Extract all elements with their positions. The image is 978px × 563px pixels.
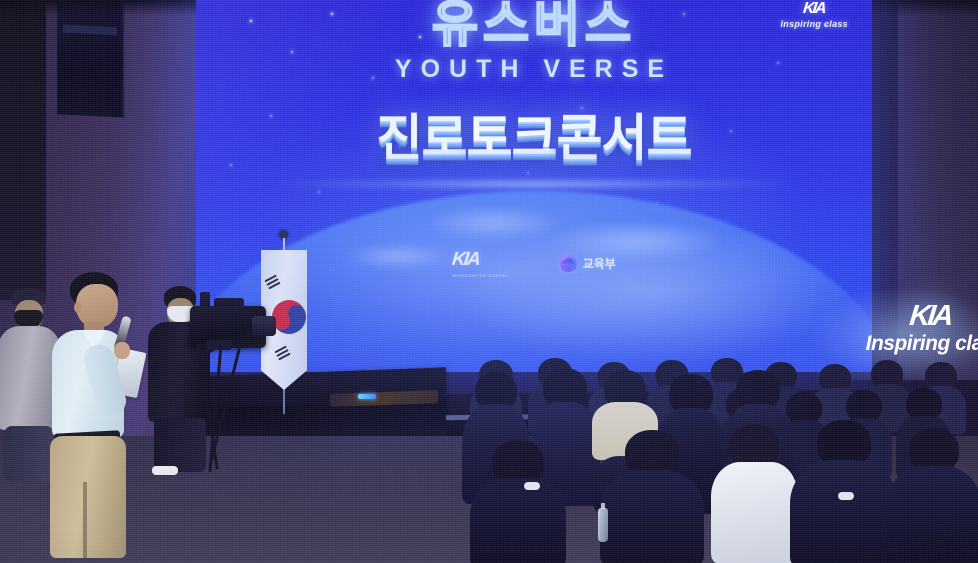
taegeuk-government-logo-icon — [560, 255, 577, 272]
screen-title-korean: 유스버스 — [196, 0, 872, 51]
person-presenter — [34, 272, 144, 557]
audience-member — [704, 424, 804, 563]
ministry-label: 교육부 — [583, 255, 616, 272]
water-bottle-icon — [598, 508, 608, 542]
audience-member — [600, 430, 704, 563]
shoe — [152, 466, 178, 475]
screen-title-english: YOUTH VERSE — [196, 55, 872, 84]
audience-member — [886, 428, 978, 563]
wall-brand-sign: KIA Inspiring clas — [866, 300, 978, 356]
equipment-indicator-light-icon — [358, 394, 376, 399]
shoe — [838, 492, 854, 500]
screen-title-block: 유스버스 YOUTH VERSE — [196, 0, 872, 84]
screen-badge-tagline: Inspiring class — [780, 19, 848, 29]
sponsor-ministry-of-education: 교육부 — [560, 255, 616, 272]
sponsor-kia: KIA Movement that inspires — [452, 249, 507, 278]
audience-member — [470, 440, 566, 563]
scene-root: 유스버스 YOUTH VERSE 진로토크콘서트 KIA Inspiring c… — [0, 0, 978, 563]
subtitle-segment-2: 토크 — [467, 110, 557, 166]
trousers — [154, 418, 206, 472]
kia-wordmark-icon: KIA — [780, 0, 849, 18]
kia-wordmark-icon: KIA — [864, 300, 978, 333]
screen-corner-brand-badge: KIA Inspiring class — [780, 0, 848, 29]
wall-sign-tagline: Inspiring clas — [866, 332, 978, 356]
trouser-seam — [83, 482, 87, 558]
trousers — [50, 436, 126, 558]
ear — [74, 302, 82, 313]
subtitle-segment-3: 콘서트 — [557, 110, 692, 166]
shoe — [524, 482, 540, 490]
screen-subtitle-korean: 진로토크콘서트 — [196, 98, 872, 170]
camera-lens-icon — [252, 316, 276, 336]
left-wall-shadow — [0, 0, 46, 300]
ceiling-speaker-icon — [57, 0, 125, 118]
kia-wordmark-icon: KIA — [451, 249, 509, 271]
kia-tagline: Movement that inspires — [452, 273, 507, 279]
hand — [114, 342, 130, 359]
subtitle-segment-1: 진로 — [377, 110, 467, 166]
